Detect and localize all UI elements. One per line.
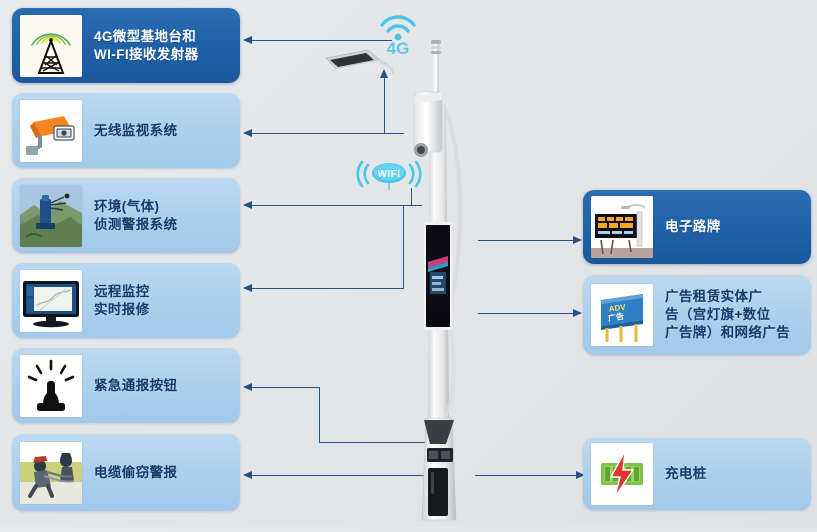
monitor-map-icon xyxy=(20,270,82,332)
panel-emergency-button[interactable]: 紧急通报按钮 xyxy=(12,348,240,423)
panel-4g-wifi[interactable]: 4G微型基地台和 WI-FI接收发射器 xyxy=(12,8,240,83)
pole-led-screen xyxy=(424,222,452,330)
billboard-icon: ADV 广告 xyxy=(591,284,653,346)
panel-advertising[interactable]: ADV 广告 广告租赁实体广 告（宫灯旗+数位 广告牌）和网络广告 xyxy=(583,275,811,355)
connector-arrow-left xyxy=(243,471,252,479)
panel-wireless-surveillance-label: 无线监视系统 xyxy=(82,122,240,140)
cctv-camera-icon xyxy=(20,100,82,162)
led-roadsign-icon xyxy=(591,196,653,258)
panel-environment-gas-label: 环境(气体) 侦测警报系统 xyxy=(82,198,240,234)
panel-charging-pile-label: 充电桩 xyxy=(653,465,811,483)
panel-electronic-roadsign[interactable]: 电子路牌 xyxy=(583,190,811,264)
connector-arrow-right xyxy=(573,236,582,244)
panel-4g-wifi-label: 4G微型基地台和 WI-FI接收发射器 xyxy=(82,28,240,64)
charging-bolt-art xyxy=(591,443,653,505)
panel-environment-gas[interactable]: 环境(气体) 侦测警报系统 xyxy=(12,178,240,253)
alarm-beacon-icon xyxy=(20,355,82,417)
cell-tower-art xyxy=(20,15,82,77)
panel-remote-monitor[interactable]: 远程监控 实时报修 xyxy=(12,263,240,338)
panel-charging-pile[interactable]: 充电桩 xyxy=(583,438,811,510)
pole-camera-box xyxy=(414,92,442,157)
panel-cable-theft[interactable]: 电缆偷窃警报 xyxy=(12,434,240,511)
badge-4g-label: 4G xyxy=(387,39,410,56)
connector-line xyxy=(252,387,320,388)
cable-thief-art xyxy=(20,442,82,504)
gas-sensor-icon xyxy=(20,185,82,247)
alarm-beacon-art xyxy=(20,355,82,417)
pole-illustration xyxy=(400,0,540,527)
panel-cable-theft-label: 电缆偷窃警报 xyxy=(82,464,240,482)
pole-base-cabinet xyxy=(422,418,456,520)
connector-line xyxy=(319,387,320,443)
connector-line xyxy=(252,205,422,206)
panel-electronic-roadsign-label: 电子路牌 xyxy=(653,218,811,236)
connector-arrow-left xyxy=(243,284,252,292)
connector-line xyxy=(384,77,385,133)
badge-4g: 4G xyxy=(372,8,424,56)
billboard-art: ADV 广告 xyxy=(591,284,653,346)
diagram-canvas: 4G WIFI xyxy=(0,0,817,527)
connector-arrow-left xyxy=(243,201,252,209)
panel-emergency-button-label: 紧急通报按钮 xyxy=(82,377,240,395)
monitor-map-art xyxy=(20,270,82,332)
cable-thief-icon xyxy=(20,442,82,504)
gas-sensor-art xyxy=(20,185,82,247)
signal-waves-icon: 4G xyxy=(372,8,424,56)
connector-line xyxy=(252,133,404,134)
connector-line xyxy=(252,40,392,41)
connector-arrow-left xyxy=(243,36,252,44)
panel-remote-monitor-label: 远程监控 实时报修 xyxy=(82,283,240,319)
connector-line xyxy=(252,288,404,289)
panel-advertising-label: 广告租赁实体广 告（宫灯旗+数位 广告牌）和网络广告 xyxy=(653,288,811,342)
led-roadsign-art xyxy=(591,196,653,258)
smart-light-pole xyxy=(400,0,540,527)
cctv-camera-art xyxy=(20,100,82,162)
badge-wifi: WIFI xyxy=(352,158,426,190)
wifi-waves-icon: WIFI xyxy=(352,158,426,190)
connector-arrow-left xyxy=(243,129,252,137)
connector-arrow-right xyxy=(573,309,582,317)
panel-wireless-surveillance[interactable]: 无线监视系统 xyxy=(12,93,240,168)
badge-wifi-label: WIFI xyxy=(377,169,400,180)
charging-bolt-icon xyxy=(591,443,653,505)
cell-tower-icon xyxy=(20,15,82,77)
connector-arrow-left xyxy=(243,383,252,391)
